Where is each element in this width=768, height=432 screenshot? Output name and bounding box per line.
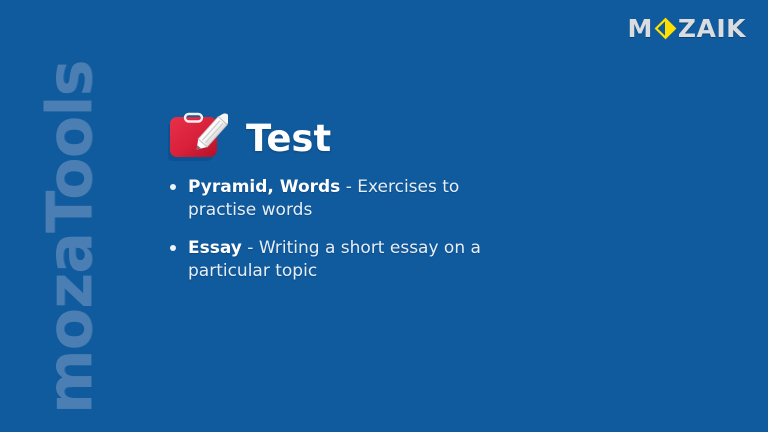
test-clipboard-pencil-icon xyxy=(168,109,228,165)
title-row: Test xyxy=(168,108,598,166)
bullet-term: Essay xyxy=(188,238,242,258)
mozatools-watermark: mozaTools xyxy=(0,0,140,432)
mozaik-logo[interactable]: M ZAIK xyxy=(627,14,746,42)
bullet-dot-icon xyxy=(170,184,176,190)
page-title: Test xyxy=(246,120,331,157)
mozatools-watermark-label: mozaTools xyxy=(39,60,101,432)
content-panel: Test Pyramid, Words - Exercises to pract… xyxy=(168,108,598,282)
bullet-separator: - xyxy=(242,238,259,258)
yellow-diamond-arrow-icon xyxy=(654,17,677,40)
bullet-separator: - xyxy=(340,177,357,197)
feature-bullet-list: Pyramid, Words - Exercises to practise w… xyxy=(168,176,598,282)
brand-letter-m: M xyxy=(627,16,652,41)
list-item: Pyramid, Words - Exercises to practise w… xyxy=(168,176,518,221)
brand-letters-zaik: ZAIK xyxy=(678,16,746,41)
list-item: Essay - Writing a short essay on a parti… xyxy=(168,237,518,282)
bullet-dot-icon xyxy=(170,245,176,251)
bullet-term: Pyramid, Words xyxy=(188,177,340,197)
slide-root: M ZAIK mozaTools xyxy=(0,0,768,432)
